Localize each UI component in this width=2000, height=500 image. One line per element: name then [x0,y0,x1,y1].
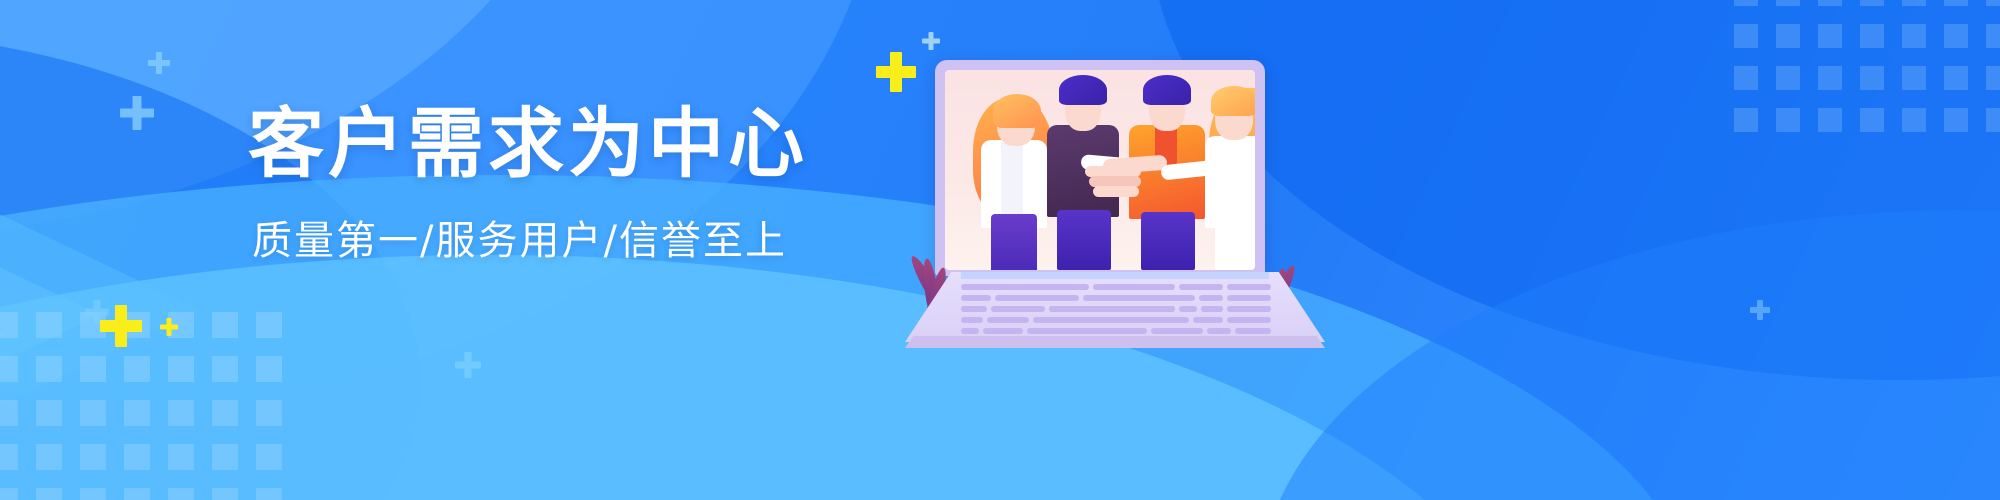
plus-blue-right-icon [1750,300,1770,320]
banner-subheadline: 质量第一/服务用户/信誉至上 [252,208,868,266]
laptop-hinge [961,272,1269,279]
square-grid-top-right [1734,0,2000,132]
promo-banner: 客户需求为中心 质量第一/服务用户/信誉至上 [0,0,2000,500]
plus-blue-center-icon [455,352,481,378]
hair-front-icon [993,94,1041,128]
plus-blue-top-1-icon [148,52,170,74]
chevron-accent-3 [0,255,8,415]
hair-front-icon [1059,75,1107,105]
legs [1215,220,1255,270]
plus-blue-left-icon [85,300,109,324]
inner-shirt [1001,142,1023,216]
laptop-screen [945,70,1255,270]
plus-pale-top-icon [922,32,940,50]
legs [1057,210,1111,270]
background-wave-lower-right [1260,210,2000,500]
plus-blue-top-2-icon [120,96,154,130]
hair-front-icon [1211,86,1255,116]
banner-copy-block: 客户需求为中心 质量第一/服务用户/信誉至上 [248,104,868,266]
hair-front-icon [1143,75,1191,105]
laptop-illustration [905,60,1325,350]
square-grid-bottom-left [0,312,282,500]
person-woman-right [1195,70,1255,270]
plus-yellow-large-left-icon [100,305,142,347]
laptop-keyboard [961,284,1271,338]
plus-yellow-small-left-icon [160,318,178,336]
torso [1205,136,1255,228]
chevron-accent-2 [0,215,103,415]
banner-headline: 客户需求为中心 [248,104,868,184]
legs [991,214,1037,270]
legs [1141,212,1195,270]
laptop-front-lip [905,336,1325,348]
chevron-accent-1 [0,200,203,420]
laptop-base [905,272,1325,350]
stacked-hands-icon [1085,166,1145,200]
laptop-lid [935,60,1265,276]
